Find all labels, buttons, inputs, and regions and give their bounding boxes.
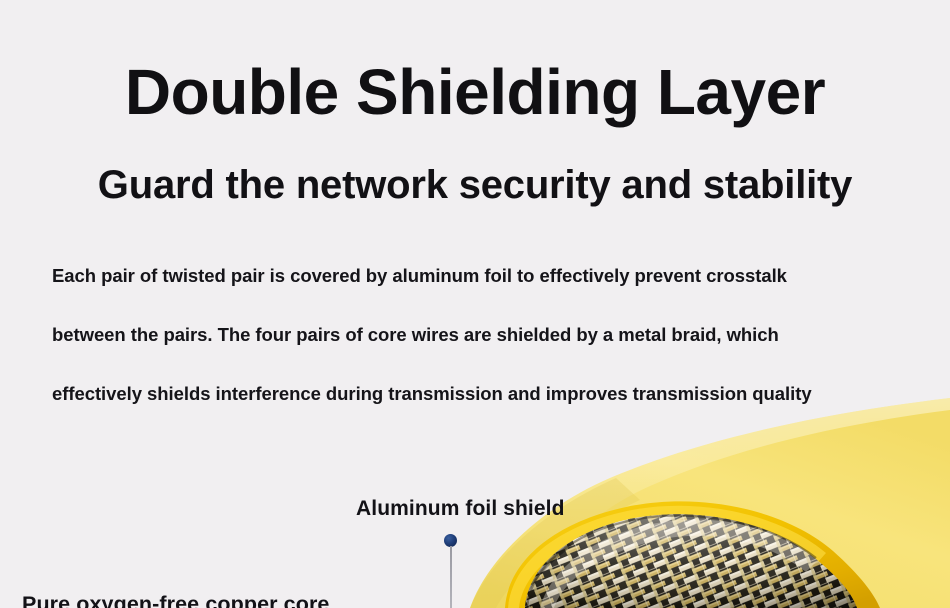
page-title: Double Shielding Layer — [0, 56, 950, 128]
jacket-braid-seam — [527, 516, 816, 608]
callout-label-pure-oxygen-free-copper-core: Pure oxygen-free copper core — [22, 592, 330, 608]
page-subtitle: Guard the network security and stability — [0, 160, 950, 210]
product-feature-poster: Double Shielding Layer Guard the network… — [0, 0, 950, 608]
description-line-2: between the pairs. The four pairs of cor… — [52, 305, 950, 364]
callout-leader-line-aluminum-foil-shield — [450, 546, 452, 608]
description-paragraph: Each pair of twisted pair is covered by … — [52, 246, 950, 423]
description-line-1: Each pair of twisted pair is covered by … — [52, 246, 950, 305]
description-line-3: effectively shields interference during … — [52, 364, 950, 423]
callout-label-aluminum-foil-shield: Aluminum foil shield — [356, 497, 565, 521]
